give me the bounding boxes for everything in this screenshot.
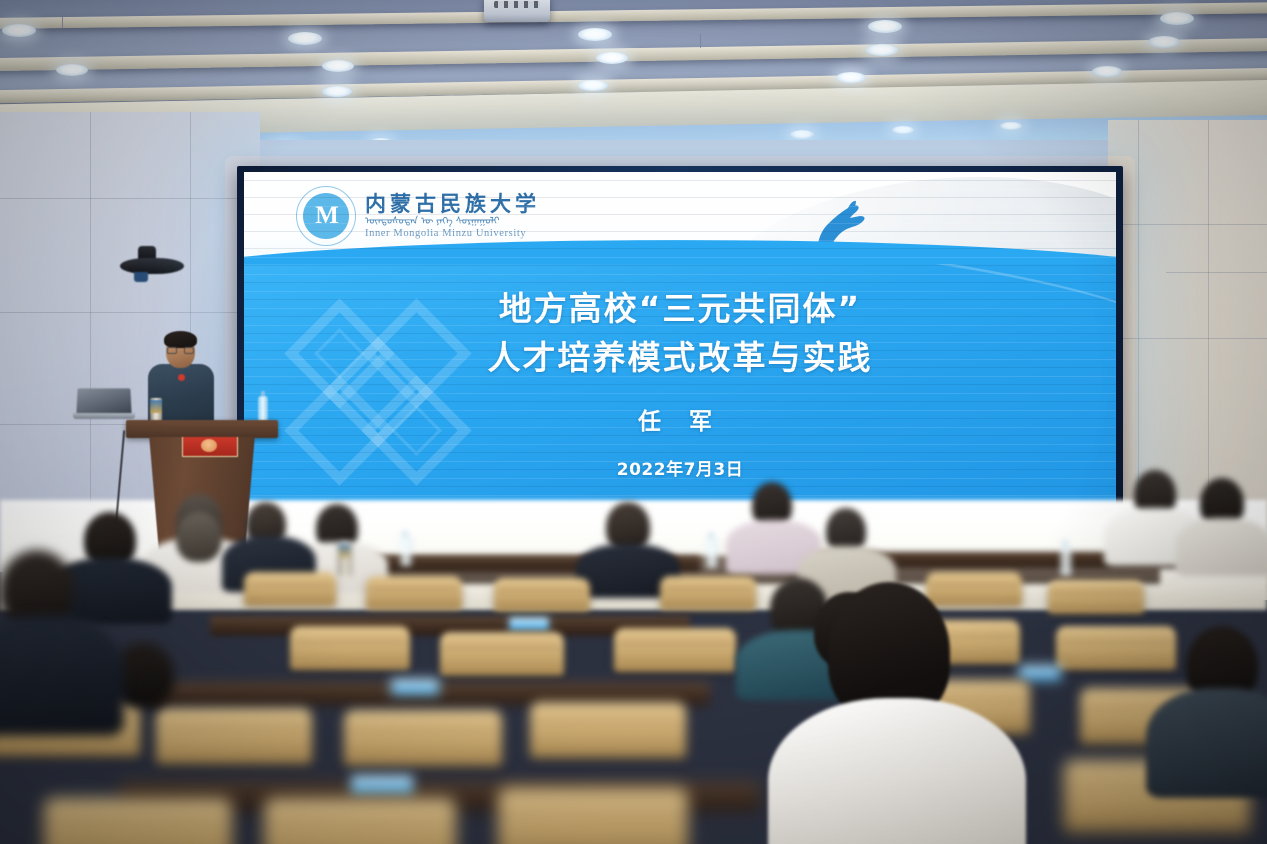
auditorium-seat: [366, 576, 462, 610]
auditorium-seat: [44, 798, 232, 844]
university-name-mn: ᠦᠨᠳᠦᠰᠦᠲᠡᠨ ᠦ ᠶᠡᠬᠡ ᠰᠤᠷᠭᠠᠭᠤᠯᠢ: [365, 216, 540, 227]
thermos-flask: [338, 542, 352, 576]
seal-monogram: M: [303, 193, 349, 239]
wall-panel-seam: [1108, 338, 1267, 339]
ceiling-downlight-icon: [578, 28, 612, 41]
university-name-en: Inner Mongolia Minzu University: [365, 228, 540, 239]
auditorium-seat: [1056, 626, 1176, 670]
ceiling-downlight-icon: [868, 20, 902, 33]
ceiling-downlight-icon: [790, 130, 814, 139]
laptop-base: [73, 413, 135, 419]
ceiling-hanger-wire: [62, 16, 63, 32]
university-name-cn: 内蒙古民族大学: [365, 193, 540, 215]
auditorium-seat: [156, 708, 312, 764]
auditorium-seat: [440, 632, 564, 676]
auditorium-seat: [926, 572, 1022, 606]
ceiling-downlight-icon: [1160, 12, 1194, 25]
ceiling-downlight-icon: [1092, 66, 1122, 77]
slide-header-band: M 内蒙古民族大学 ᠦᠨᠳᠦᠰᠦᠲᠡᠨ ᠦ ᠶᠡᠬᠡ ᠰᠤᠷᠭᠠᠭᠤᠯᠢ Inn…: [244, 172, 1116, 268]
auditorium-seat: [494, 578, 590, 612]
slide-title-line2: 人才培养模式改革与实践: [244, 335, 1116, 382]
ceiling-downlight-icon: [2, 24, 36, 37]
ceiling-downlight-icon: [1000, 122, 1022, 130]
auditorium-seat: [344, 710, 502, 766]
wall-panel-seam: [1166, 272, 1267, 273]
university-name-block: 内蒙古民族大学 ᠦᠨᠳᠦᠰᠦᠲᠡᠨ ᠦ ᠶᠡᠬᠡ ᠰᠤᠷᠭᠠᠭᠤᠯᠢ Inner…: [365, 193, 540, 239]
water-bottle: [400, 536, 412, 566]
auditorium-seat: [660, 576, 756, 610]
ceiling-downlight-icon: [596, 52, 628, 64]
wall-panel-seam: [1108, 224, 1267, 225]
ceiling-downlight-icon: [866, 44, 898, 56]
water-bottle: [1060, 546, 1072, 576]
auditorium-seat: [244, 572, 336, 606]
water-bottle: [706, 538, 718, 568]
ceiling-downlight-icon: [322, 86, 352, 97]
audience-head: [176, 512, 222, 562]
projector-icon: [484, 0, 550, 22]
auditorium-seat: [264, 798, 456, 844]
ceiling-downlight-icon: [322, 60, 354, 72]
wall-panel-seam: [0, 198, 260, 199]
university-logo: M 内蒙古民族大学 ᠦᠨᠳᠦᠰᠦᠲᠡᠨ ᠦ ᠶᠡᠬᠡ ᠰᠤᠷᠭᠠᠭᠤᠯᠢ Inn…: [296, 186, 540, 246]
ceiling-downlight-icon: [836, 72, 866, 83]
desk-display: [352, 776, 412, 794]
ceiling-downlight-icon: [578, 80, 608, 91]
auditorium-seat: [290, 626, 410, 670]
ceiling-downlight-icon: [56, 64, 88, 76]
ceiling-downlight-icon: [1148, 36, 1180, 48]
ptz-camera-icon: [120, 246, 184, 280]
speaker-lapel-badge: [178, 374, 185, 381]
auditorium-seat: [1048, 580, 1144, 614]
ceiling-downlight-icon: [288, 32, 322, 45]
ceiling-beam: [0, 37, 1267, 71]
audience-area: [0, 430, 1267, 844]
audience-shoulders: [1176, 518, 1267, 576]
slide-title-line1: 地方高校“三元共同体”: [244, 286, 1116, 333]
ceiling-hanger-wire: [700, 34, 701, 48]
desk-display: [510, 618, 548, 630]
eyeglasses-icon: [167, 347, 194, 354]
laptop-screen: [76, 388, 131, 414]
desk-display: [392, 680, 438, 694]
wall-panel-seam: [0, 312, 260, 313]
presenter-laptop: [73, 388, 135, 422]
auditorium-seat: [498, 788, 688, 844]
audience-shoulders: [0, 616, 124, 736]
foreground-person-shoulders: [768, 698, 1026, 844]
auditorium-seat: [530, 702, 686, 758]
ceiling-beam: [0, 2, 1267, 30]
university-seal-icon: M: [296, 186, 356, 246]
ceiling-downlight-icon: [892, 126, 914, 134]
lecture-hall-photo: M 内蒙古民族大学 ᠦᠨᠳᠦᠰᠦᠲᠡᠨ ᠦ ᠶᠡᠬᠡ ᠰᠤᠷᠭᠠᠭᠤᠯᠢ Inn…: [0, 0, 1267, 844]
speaker-hair: [164, 331, 197, 348]
desk-display: [1020, 666, 1060, 680]
audience-shoulders: [1146, 688, 1267, 798]
auditorium-seat: [614, 628, 736, 672]
water-bottle: [258, 396, 268, 422]
